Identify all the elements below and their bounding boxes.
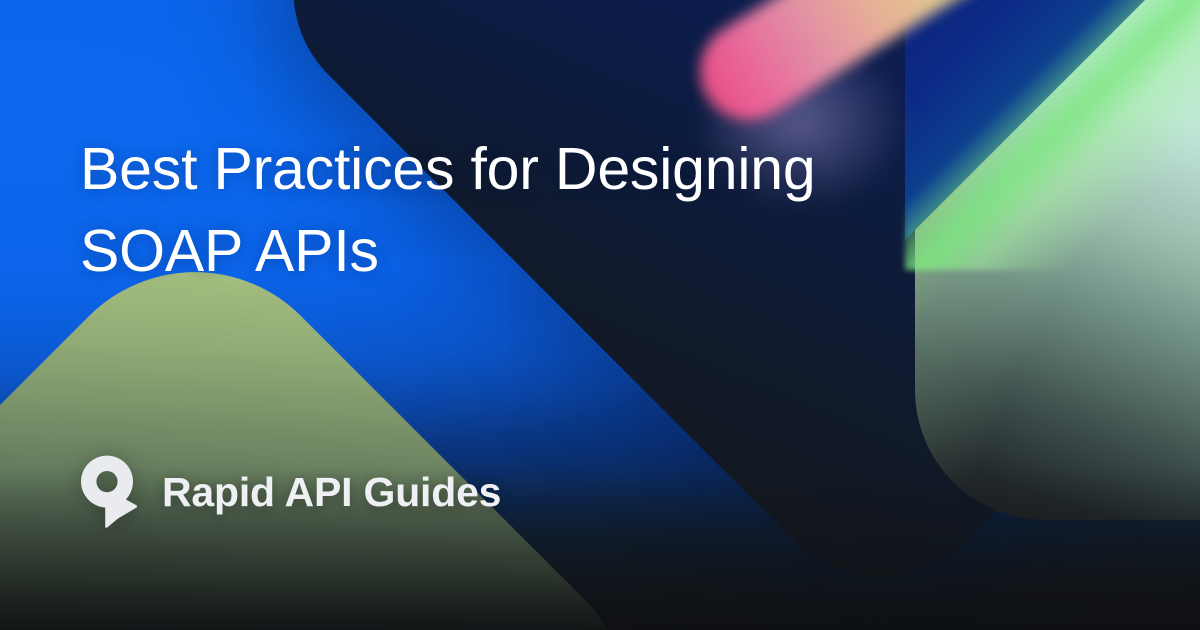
- rapidapi-logo-glyph: [78, 455, 140, 529]
- brand-lockup: Rapid API Guides: [78, 455, 501, 529]
- brand-name-label: Rapid API Guides: [162, 472, 501, 513]
- card-content: Best Practices for Designing SOAP APIs: [0, 0, 1200, 630]
- card-headline: Best Practices for Designing SOAP APIs: [80, 128, 920, 292]
- social-card: Best Practices for Designing SOAP APIs: [0, 0, 1200, 630]
